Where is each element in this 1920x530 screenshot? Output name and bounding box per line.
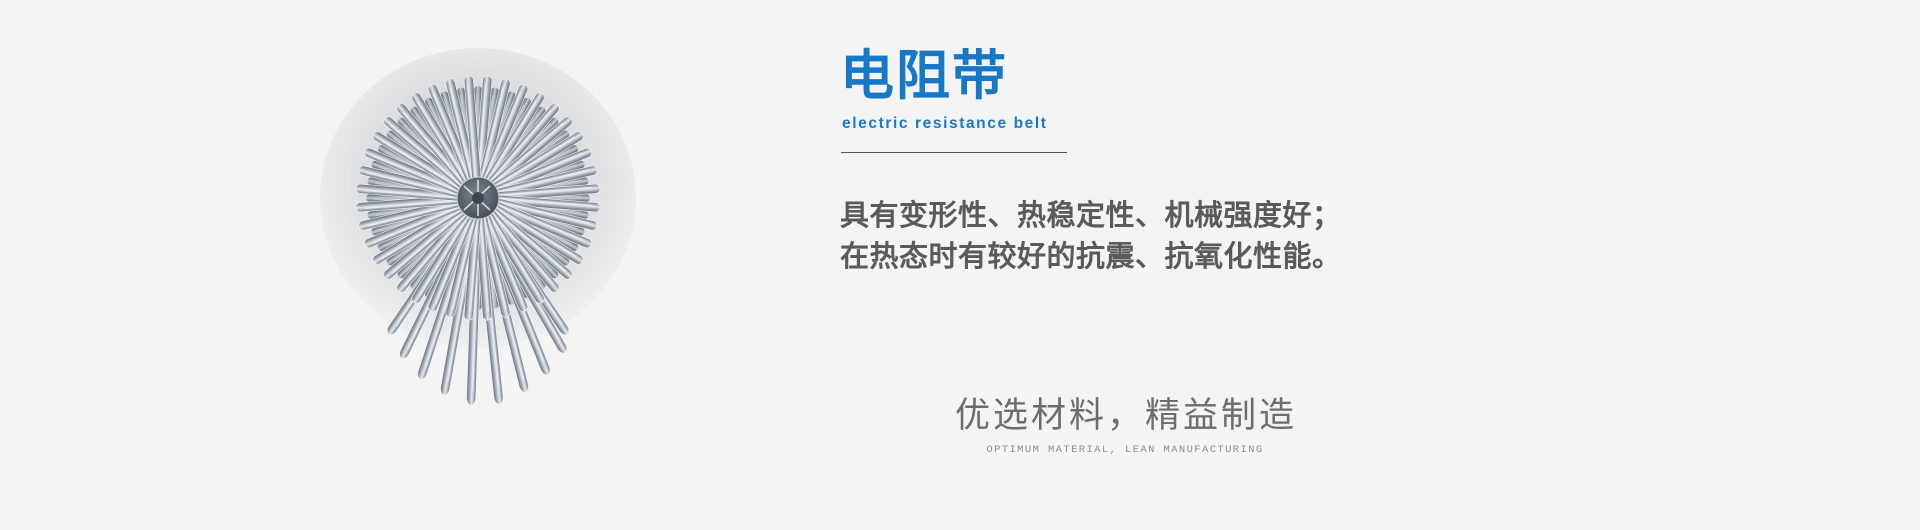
description-line: 具有变形性、热稳定性、机械强度好； <box>840 196 1740 237</box>
title-divider <box>841 152 1067 153</box>
slogan-english: OPTIMUM MATERIAL, LEAN MANUFACTURING <box>955 444 1295 456</box>
belt-center-hub <box>457 177 499 219</box>
slogan-chinese: 优选材料，精益制造 <box>955 396 1295 437</box>
page-title: 电阻带 <box>840 48 1740 105</box>
slogan-block: 优选材料，精益制造 OPTIMUM MATERIAL, LEAN MANUFAC… <box>955 396 1295 456</box>
product-banner: 电阻带 electric resistance belt 具有变形性、热稳定性、… <box>0 0 1920 530</box>
page-subtitle: electric resistance belt <box>842 115 1740 133</box>
text-panel: 电阻带 electric resistance belt 具有变形性、热稳定性、… <box>840 48 1740 279</box>
product-description: 具有变形性、热稳定性、机械强度好； 在热态时有较好的抗震、抗氧化性能。 <box>840 196 1740 278</box>
resistance-belt-illustration <box>300 30 660 410</box>
product-image <box>300 30 660 410</box>
description-line: 在热态时有较好的抗震、抗氧化性能。 <box>840 237 1740 278</box>
